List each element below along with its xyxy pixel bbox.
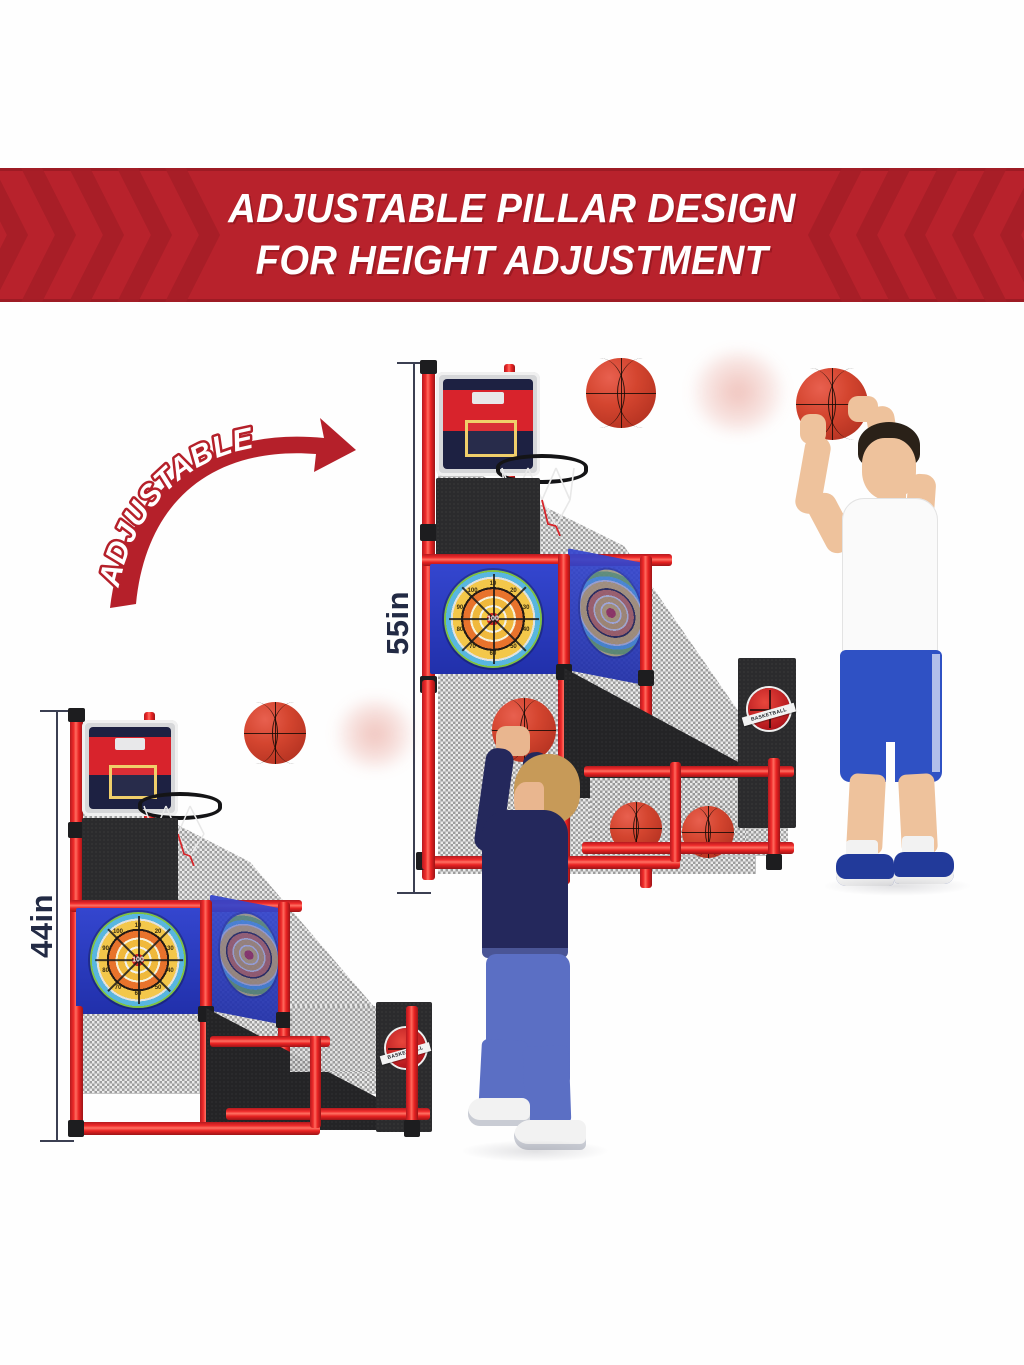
target-number: 20: [510, 588, 517, 594]
shorts-stripe: [932, 654, 940, 772]
target-number: 40: [167, 968, 174, 974]
adjustable-label: ADJUSTABLE: [93, 422, 257, 591]
target-number: 90: [457, 605, 464, 611]
chevron-decor: [0, 168, 28, 302]
shorts-gap: [886, 742, 895, 784]
target-center-score: 100: [487, 616, 499, 623]
chevron-decor: [1000, 168, 1024, 302]
target-number: 20: [155, 929, 162, 935]
target-number: 60: [135, 991, 142, 997]
leg-joint: [766, 854, 782, 870]
target-center-score: 100: [132, 957, 144, 964]
target-board: 100 102030405060708090100: [430, 564, 562, 674]
banner-top-edge: [0, 168, 1024, 171]
target-rings: 100 102030405060708090100: [90, 912, 186, 1008]
adjustable-callout: ADJUSTABLE: [88, 404, 358, 614]
person-toddler: [452, 690, 622, 1160]
backboard-shoot-square: [109, 765, 158, 799]
target-number: 100: [468, 588, 478, 594]
product-feature-image: ADJUSTABLE PILLAR DESIGN FOR HEIGHT ADJU…: [0, 0, 1024, 1365]
motion-blur-ghost: [336, 700, 414, 768]
headline-banner: ADJUSTABLE PILLAR DESIGN FOR HEIGHT ADJU…: [0, 168, 1024, 302]
pillar-joint: [68, 708, 85, 722]
dimension-label-44in: 44in: [24, 866, 60, 986]
backboard-logo: [472, 392, 504, 405]
backboard-logo: [115, 738, 145, 750]
target-number: 80: [102, 968, 109, 974]
floor-shadow: [822, 876, 972, 896]
person-older-boy: [786, 362, 996, 892]
target-rings: 100 102030405060708090100: [444, 570, 542, 668]
headline-text: ADJUSTABLE PILLAR DESIGN FOR HEIGHT ADJU…: [36, 182, 988, 287]
frame-leg-front-right: [768, 758, 780, 864]
curved-arrow-icon: ADJUSTABLE: [88, 404, 358, 614]
tank-top: [842, 498, 938, 656]
flying-ball-large: [586, 358, 656, 428]
frame-leg-back-right: [670, 762, 681, 862]
target-number: 90: [102, 946, 109, 952]
target-number: 60: [490, 651, 497, 657]
target-number: 100: [113, 929, 123, 935]
pillar-joint: [420, 360, 437, 374]
backboard-shoot-square: [465, 420, 518, 456]
frame-rail-bottom-front: [68, 1122, 320, 1135]
pillar-joint: [420, 524, 437, 541]
target-number: 80: [457, 627, 464, 633]
torso-sweater: [482, 810, 568, 958]
frame-rail-bottom-back: [226, 1108, 430, 1120]
post-joint: [638, 670, 654, 686]
target-number: 70: [115, 985, 122, 991]
target-board: 100 102030405060708090100: [76, 908, 204, 1014]
target-number: 30: [523, 605, 530, 611]
target-number: 50: [155, 985, 162, 991]
target-number: 40: [523, 627, 530, 633]
banner-bottom-edge: [0, 299, 1024, 302]
frame-leg-left-front: [70, 1006, 83, 1134]
target-number: 50: [510, 644, 517, 650]
target-number: 10: [490, 581, 497, 587]
motion-blur-ghost: [692, 352, 784, 432]
target-number: 70: [469, 644, 476, 650]
leg-joint: [404, 1120, 420, 1137]
leg-joint: [68, 1120, 84, 1137]
target-number: 30: [167, 946, 174, 952]
target-number: 10: [135, 923, 142, 929]
small-unit: 100 102030405060708090100 BASKETBALL: [60, 706, 450, 1146]
flying-ball-small: [244, 702, 306, 764]
floor-shadow: [460, 1140, 610, 1162]
frame-leg-back-mid: [310, 1036, 321, 1128]
frame-leg-front-right: [406, 1006, 418, 1130]
brand-badge: BASKETBALL: [748, 688, 790, 730]
